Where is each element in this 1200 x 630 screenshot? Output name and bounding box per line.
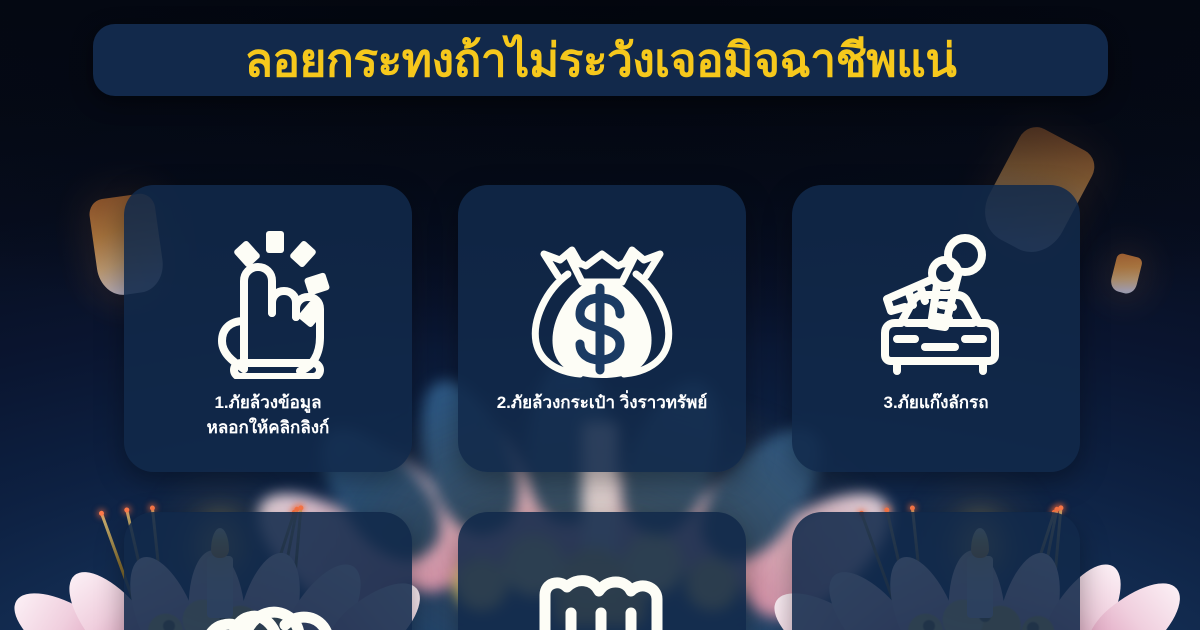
card-label-3: 3.ภัยแก๊งลักรถ: [871, 391, 1000, 416]
card-row2-item-2[interactable]: [458, 512, 746, 630]
poster-canvas: ลอยกระทงถ้าไม่ระวังเจอมิจฉาชีพแน่: [0, 0, 1200, 630]
card-label-1: 1.ภัยล้วงข้อมูล หลอกให้คลิกลิงก์: [195, 391, 342, 440]
card-row2-item-1[interactable]: [124, 512, 412, 630]
card-label-1-line2: หลอกให้คลิกลิงก์: [207, 416, 330, 441]
card-item-1[interactable]: 1.ภัยล้วงข้อมูล หลอกให้คลิกลิงก์: [124, 185, 412, 472]
card-label-1-line1: 1.ภัยล้วงข้อมูล: [207, 391, 330, 416]
card-label-3-line1: 3.ภัยแก๊งลักรถ: [883, 391, 988, 416]
card-item-3[interactable]: 3.ภัยแก๊งลักรถ: [792, 185, 1080, 472]
card-item-2[interactable]: 2.ภัยล้วงกระเป๋า วิ่งราวทรัพย์: [458, 185, 746, 472]
page-title: ลอยกระทงถ้าไม่ระวังเจอมิจฉาชีพแน่: [245, 37, 957, 83]
car-with-keys-icon: [861, 219, 1011, 389]
card-label-2: 2.ภัยล้วงกระเป๋า วิ่งราวทรัพย์: [485, 391, 720, 416]
card-row2-item-3[interactable]: [792, 512, 1080, 630]
money-bag-dollar-icon: [524, 219, 680, 389]
hands-outline-icon: [193, 560, 343, 630]
title-banner: ลอยกระทงถ้าไม่ระวังเจอมิจฉาชีพแน่: [93, 24, 1108, 96]
card-label-2-line1: 2.ภัยล้วงกระเป๋า วิ่งราวทรัพย์: [497, 391, 708, 416]
pointing-hand-click-icon: [204, 219, 332, 389]
fence-outline-icon: [527, 560, 677, 630]
